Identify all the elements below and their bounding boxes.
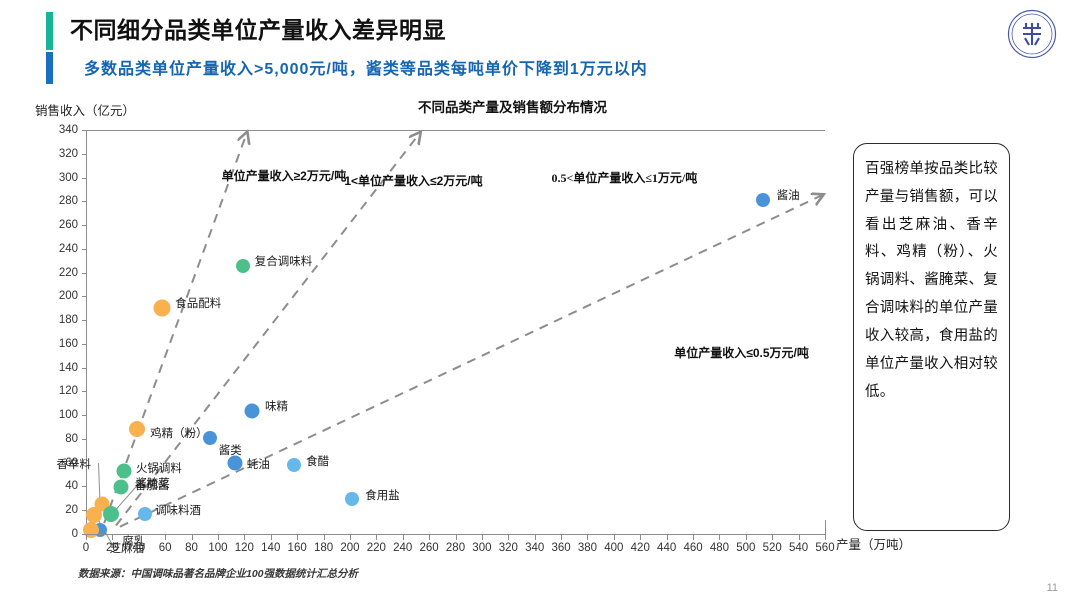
- y-tick-label: 320: [44, 148, 78, 160]
- zone-label-1to2: 1<单位产量收入≤2万元/吨: [344, 172, 482, 189]
- y-tick-mark: [82, 439, 87, 440]
- scatter-point-label: 味精: [265, 398, 288, 414]
- scatter-point-label: 酱油: [777, 187, 800, 203]
- y-tick-mark: [82, 273, 87, 274]
- x-tick-mark: [614, 535, 615, 540]
- x-tick-label: 420: [631, 542, 650, 554]
- y-tick-label: 60: [44, 457, 78, 469]
- scatter-point-label: 食品配料: [175, 295, 221, 311]
- x-tick-mark: [297, 535, 298, 540]
- x-tick-label: 180: [314, 542, 333, 554]
- x-tick-mark: [112, 535, 113, 540]
- x-tick-mark: [825, 535, 826, 540]
- x-tick-mark: [799, 535, 800, 540]
- scatter-point-label: 鸡精（粉）: [150, 425, 208, 441]
- x-tick-label: 40: [132, 542, 145, 554]
- y-tick-mark: [82, 510, 87, 511]
- x-tick-mark: [535, 535, 536, 540]
- x-tick-mark: [746, 535, 747, 540]
- x-tick-mark: [376, 535, 377, 540]
- scatter-point-label: 火锅调料: [136, 460, 182, 476]
- x-axis-label: 产量（万吨）: [836, 534, 911, 553]
- x-tick-mark: [244, 535, 245, 540]
- y-tick-mark: [82, 463, 87, 464]
- scatter-point[interactable]: [227, 455, 242, 470]
- scatter-point[interactable]: [287, 458, 301, 472]
- y-axis-label: 销售收入（亿元）: [35, 100, 135, 119]
- slide: 不同细分品类单位产量收入差异明显 多数品类单位产量收入>5,000元/吨，酱类等…: [0, 0, 1080, 608]
- x-tick-label: 240: [393, 542, 412, 554]
- x-tick-mark: [508, 535, 509, 540]
- scatter-point[interactable]: [138, 507, 152, 521]
- scatter-point-label: 食醋: [306, 453, 329, 469]
- x-tick-mark: [324, 535, 325, 540]
- x-tick-mark: [165, 535, 166, 540]
- x-tick-mark: [139, 535, 140, 540]
- x-tick-mark: [456, 535, 457, 540]
- x-tick-label: 400: [604, 542, 623, 554]
- x-axis-end-cap: [825, 520, 826, 535]
- x-tick-mark: [693, 535, 694, 540]
- x-tick-mark: [772, 535, 773, 540]
- y-tick-label: 120: [44, 385, 78, 397]
- x-tick-label: 60: [159, 542, 172, 554]
- y-tick-mark: [82, 130, 87, 131]
- y-tick-mark: [82, 201, 87, 202]
- y-tick-label: 160: [44, 338, 78, 350]
- x-tick-label: 140: [261, 542, 280, 554]
- y-tick-label: 140: [44, 362, 78, 374]
- y-tick-label: 340: [44, 124, 78, 136]
- label-leader-lines: [87, 131, 826, 535]
- y-tick-mark: [82, 225, 87, 226]
- x-tick-label: 200: [340, 542, 359, 554]
- insight-callout: 百强榜单按品类比较产量与销售额，可以看出芝麻油、香辛料、鸡精（粉）、火锅调料、酱…: [853, 143, 1010, 531]
- y-tick-label: 280: [44, 195, 78, 207]
- y-tick-label: 300: [44, 172, 78, 184]
- zone-label-le05: 单位产量收入≤0.5万元/吨: [674, 344, 809, 361]
- x-tick-mark: [667, 535, 668, 540]
- x-tick-mark: [482, 535, 483, 540]
- scatter-point-label: 复合调味料: [255, 253, 313, 269]
- y-tick-mark: [82, 178, 87, 179]
- scatter-point-label: 番茄酱: [135, 477, 170, 493]
- circular-seal-logo: [1006, 8, 1058, 60]
- y-tick-mark: [82, 486, 87, 487]
- scatter-point-label: 蚝油: [247, 456, 270, 472]
- source-note: 数据来源：中国调味品著名品牌企业100强数据统计汇总分析: [78, 566, 358, 581]
- scatter-point-label: 食用盐: [365, 487, 400, 503]
- y-tick-label: 220: [44, 267, 78, 279]
- y-tick-label: 260: [44, 219, 78, 231]
- y-tick-mark: [82, 368, 87, 369]
- x-tick-mark: [192, 535, 193, 540]
- zone-label-05to1: 0.5<单位产量收入≤1万元/吨: [552, 169, 698, 186]
- accent-bar-teal: [46, 12, 53, 50]
- x-tick-mark: [218, 535, 219, 540]
- y-tick-mark: [82, 415, 87, 416]
- x-tick-label: 500: [736, 542, 755, 554]
- x-tick-label: 540: [789, 542, 808, 554]
- y-tick-label: 180: [44, 314, 78, 326]
- y-tick-label: 100: [44, 409, 78, 421]
- y-tick-mark: [82, 320, 87, 321]
- scatter-point[interactable]: [345, 492, 359, 506]
- y-tick-label: 40: [44, 480, 78, 492]
- y-tick-mark: [82, 249, 87, 250]
- x-tick-label: 460: [683, 542, 702, 554]
- x-tick-label: 560: [815, 542, 834, 554]
- chart-title: 不同品类产量及销售额分布情况: [418, 96, 607, 116]
- page-number: 11: [1047, 582, 1058, 594]
- scatter-point[interactable]: [116, 463, 131, 478]
- x-tick-label: 300: [472, 542, 491, 554]
- scatter-point[interactable]: [154, 300, 171, 317]
- y-tick-label: 240: [44, 243, 78, 255]
- scatter-point[interactable]: [86, 507, 102, 523]
- page-subtitle: 多数品类单位产量收入>5,000元/吨，酱类等品类每吨单价下降到1万元以内: [84, 55, 648, 79]
- x-tick-label: 100: [208, 542, 227, 554]
- x-tick-label: 80: [185, 542, 198, 554]
- x-tick-label: 480: [710, 542, 729, 554]
- accent-bar-blue: [46, 52, 53, 84]
- x-tick-label: 340: [525, 542, 544, 554]
- x-tick-label: 520: [763, 542, 782, 554]
- x-tick-mark: [350, 535, 351, 540]
- x-tick-mark: [86, 535, 87, 540]
- y-tick-mark: [82, 296, 87, 297]
- y-tick-label: 200: [44, 290, 78, 302]
- scatter-point[interactable]: [129, 421, 145, 437]
- scatter-point[interactable]: [244, 404, 259, 419]
- scatter-point[interactable]: [203, 431, 217, 445]
- scatter-point[interactable]: [114, 480, 129, 495]
- scatter-point[interactable]: [103, 506, 119, 522]
- scatter-point[interactable]: [236, 259, 250, 273]
- x-tick-mark: [587, 535, 588, 540]
- x-tick-label: 440: [657, 542, 676, 554]
- x-tick-mark: [429, 535, 430, 540]
- scatter-point[interactable]: [756, 193, 770, 207]
- x-tick-label: 380: [578, 542, 597, 554]
- page-title: 不同细分品类单位产量收入差异明显: [70, 11, 446, 45]
- y-tick-mark: [82, 154, 87, 155]
- x-tick-mark: [640, 535, 641, 540]
- x-tick-mark: [271, 535, 272, 540]
- x-tick-label: 220: [367, 542, 386, 554]
- y-tick-label: 20: [44, 504, 78, 516]
- x-tick-mark: [403, 535, 404, 540]
- x-tick-label: 120: [235, 542, 254, 554]
- y-tick-label: 0: [44, 528, 78, 540]
- y-tick-mark: [82, 391, 87, 392]
- x-tick-mark: [561, 535, 562, 540]
- x-tick-label: 320: [499, 542, 518, 554]
- y-tick-mark: [82, 344, 87, 345]
- x-tick-label: 0: [83, 542, 89, 554]
- x-tick-label: 260: [420, 542, 439, 554]
- zone-label-ge2: 单位产量收入≥2万元/吨: [222, 167, 347, 184]
- x-tick-label: 160: [288, 542, 307, 554]
- scatter-point-label: 调味料酒: [155, 502, 201, 518]
- x-tick-mark: [719, 535, 720, 540]
- x-tick-label: 280: [446, 542, 465, 554]
- x-tick-label: 360: [551, 542, 570, 554]
- plot-area: 单位产量收入≥2万元/吨1<单位产量收入≤2万元/吨0.5<单位产量收入≤1万元…: [86, 130, 825, 534]
- slide-header: 不同细分品类单位产量收入差异明显 多数品类单位产量收入>5,000元/吨，酱类等…: [46, 10, 926, 88]
- x-tick-label: 20: [106, 542, 119, 554]
- y-tick-label: 80: [44, 433, 78, 445]
